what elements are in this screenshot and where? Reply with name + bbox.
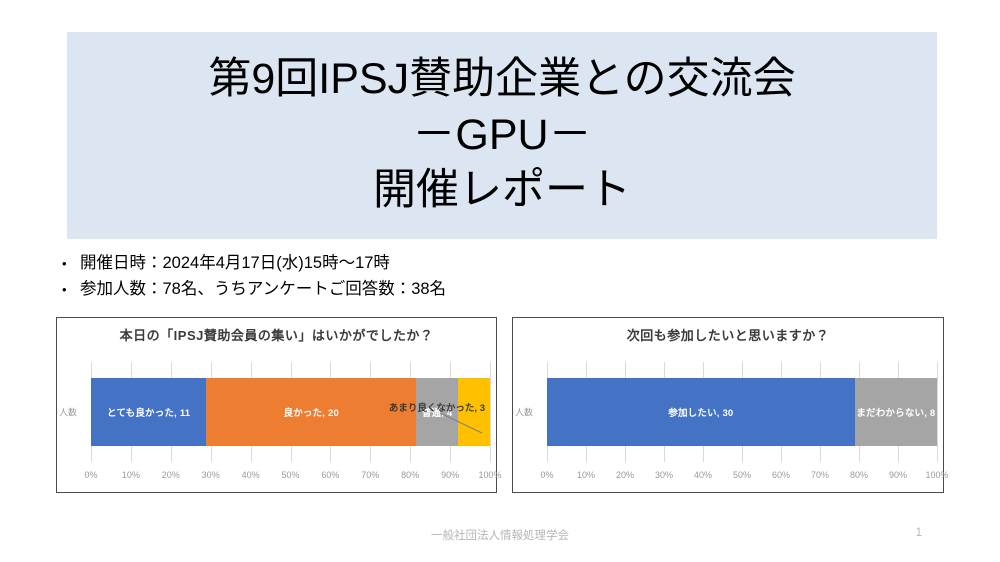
chart-satisfaction: 本日の「IPSJ賛助会員の集い」はいかがでしたか？ 人数 とても良かった, 11… — [56, 317, 497, 493]
category-label-satisfaction: 人数 — [59, 406, 77, 419]
x-tick-80: 80% — [401, 470, 419, 480]
chart-next-participation: 次回も参加したいと思いますか？ 人数 参加したい, 30 まだわからない, 8 … — [512, 317, 944, 493]
bar-segment-good[interactable]: 良かった, 20 — [206, 378, 416, 446]
bullet-text-attendance: 参加人数：78名、うちアンケートご回答数：38名 — [80, 277, 446, 303]
x-tick-80: 80% — [850, 470, 868, 480]
footer-organization: 一般社団法人情報処理学会 — [0, 527, 1000, 543]
stacked-bar-next-participation: 参加したい, 30 まだわからない, 8 — [547, 378, 937, 446]
category-label-next-participation: 人数 — [515, 406, 533, 419]
bullet-marker-icon: • — [62, 280, 80, 300]
x-tick-100: 100% — [478, 470, 501, 480]
title-line-2: －GPU－ — [412, 108, 591, 164]
x-tick-90: 90% — [889, 470, 907, 480]
x-tick-60: 60% — [321, 470, 339, 480]
x-tick-20: 20% — [162, 470, 180, 480]
bullet-marker-icon: • — [62, 254, 80, 274]
x-tick-50: 50% — [281, 470, 299, 480]
footer-page-number: 1 — [916, 527, 922, 539]
x-tick-30: 30% — [655, 470, 673, 480]
bullet-item-attendance: • 参加人数：78名、うちアンケートご回答数：38名 — [62, 277, 662, 303]
x-axis-next-participation: 0% 10% 20% 30% 40% 50% 60% 70% 80% 90% 1… — [547, 470, 937, 484]
bar-segment-will-join[interactable]: 参加したい, 30 — [547, 378, 855, 446]
bar-label-good: 良かった, 20 — [284, 405, 339, 419]
x-tick-10: 10% — [122, 470, 140, 480]
gridline — [937, 362, 938, 462]
bar-label-will-join: 参加したい, 30 — [668, 405, 733, 419]
title-line-1: 第9回IPSJ賛助企業との交流会 — [208, 52, 795, 108]
bullet-text-date: 開催日時：2024年4月17日(水)15時～17時 — [80, 251, 390, 277]
x-tick-40: 40% — [242, 470, 260, 480]
plot-area-satisfaction: 人数 とても良かった, 11 良かった, 20 普通, 4 あまり良くなかった,… — [91, 362, 490, 462]
x-tick-0: 0% — [84, 470, 97, 480]
chart-title-next-participation: 次回も参加したいと思いますか？ — [513, 325, 943, 344]
x-tick-20: 20% — [616, 470, 634, 480]
x-tick-70: 70% — [811, 470, 829, 480]
x-tick-90: 90% — [441, 470, 459, 480]
title-banner: 第9回IPSJ賛助企業との交流会 －GPU－ 開催レポート — [67, 32, 937, 239]
title-line-3: 開催レポート — [373, 163, 631, 219]
x-tick-60: 60% — [772, 470, 790, 480]
bar-label-undecided: まだわからない, 8 — [856, 405, 935, 419]
x-axis-satisfaction: 0% 10% 20% 30% 40% 50% 60% 70% 80% 90% 1… — [91, 470, 490, 484]
bullet-item-date: • 開催日時：2024年4月17日(水)15時～17時 — [62, 251, 662, 277]
plot-area-next-participation: 人数 参加したい, 30 まだわからない, 8 — [547, 362, 937, 462]
bar-label-very-good: とても良かった, 11 — [107, 405, 190, 419]
bar-callout-not-good: あまり良くなかった, 3 — [389, 400, 485, 414]
x-tick-50: 50% — [733, 470, 751, 480]
bar-segment-very-good[interactable]: とても良かった, 11 — [91, 378, 206, 446]
chart-title-satisfaction: 本日の「IPSJ賛助会員の集い」はいかがでしたか？ — [57, 325, 496, 344]
x-tick-40: 40% — [694, 470, 712, 480]
x-tick-0: 0% — [540, 470, 553, 480]
bar-segment-undecided[interactable]: まだわからない, 8 — [855, 378, 937, 446]
gridline — [490, 362, 491, 462]
bullet-list: • 開催日時：2024年4月17日(水)15時～17時 • 参加人数：78名、う… — [62, 251, 662, 302]
x-tick-30: 30% — [202, 470, 220, 480]
x-tick-10: 10% — [577, 470, 595, 480]
x-tick-70: 70% — [361, 470, 379, 480]
x-tick-100: 100% — [925, 470, 948, 480]
